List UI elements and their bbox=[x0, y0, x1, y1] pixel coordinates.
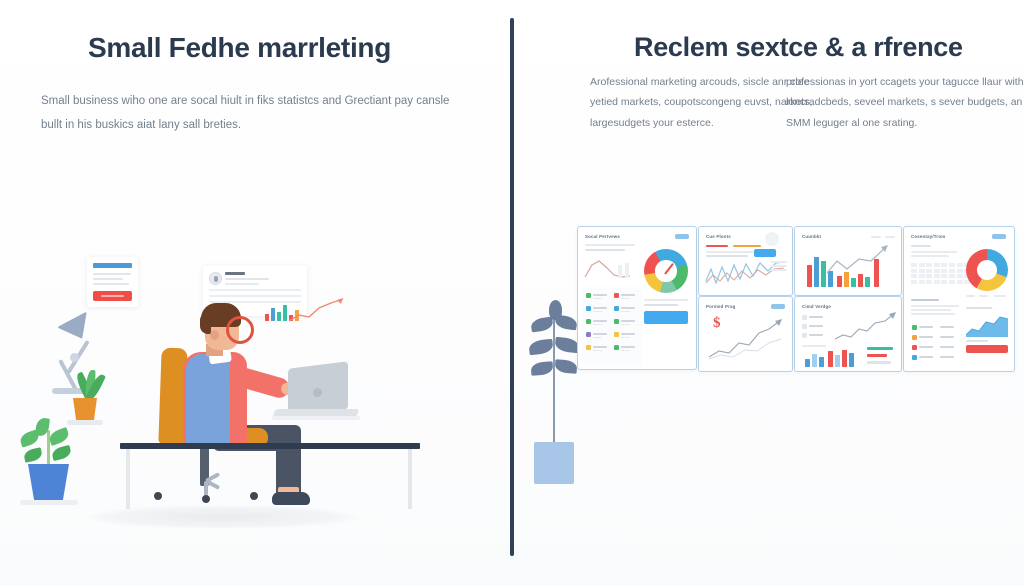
legend-swatch bbox=[706, 245, 728, 247]
left-panel: Small Fedhe marrleting Small business wi… bbox=[0, 0, 510, 585]
screen-campaigns[interactable]: Cue Plonts bbox=[698, 226, 793, 296]
chair-base bbox=[156, 481, 256, 495]
legend-swatch bbox=[867, 361, 891, 364]
laptop-logo-icon bbox=[313, 388, 322, 397]
card-text-line bbox=[93, 273, 131, 275]
floating-form-card bbox=[87, 257, 138, 307]
screen-reporting[interactable]: Cosentay/Trom bbox=[903, 226, 1015, 372]
screen-counters[interactable]: Cuunbkt bbox=[794, 226, 902, 296]
floating-analytics-chart bbox=[265, 289, 349, 323]
leaf-icon bbox=[51, 445, 72, 461]
comparison-infographic: Small Fedhe marrleting Small business wi… bbox=[0, 0, 1024, 585]
plant-pot bbox=[28, 464, 69, 503]
person-shoe bbox=[272, 492, 310, 505]
plant-pot bbox=[73, 398, 97, 422]
line-chart bbox=[584, 255, 636, 283]
trend-arrow-icon bbox=[825, 243, 893, 283]
lamp-joint bbox=[70, 353, 79, 362]
person-hair-side bbox=[200, 314, 211, 334]
screen-growth[interactable]: Cimd Verdge bbox=[794, 296, 902, 372]
leaf-icon bbox=[47, 427, 70, 446]
desk-surface bbox=[120, 443, 420, 449]
plant-pot bbox=[534, 442, 574, 484]
screen-funnel[interactable]: Pormed Prag $ bbox=[698, 296, 793, 372]
person-ear bbox=[210, 330, 219, 340]
legend-swatch bbox=[733, 245, 761, 247]
leaf-icon bbox=[23, 447, 43, 462]
avatar bbox=[209, 272, 222, 285]
post-text-line bbox=[225, 278, 269, 280]
area-line bbox=[833, 311, 897, 345]
plant-saucer bbox=[67, 420, 103, 425]
post-author-line bbox=[225, 272, 245, 275]
plant-saucer bbox=[20, 500, 78, 505]
post-text-line bbox=[225, 283, 259, 285]
card-text-line bbox=[93, 278, 123, 280]
legend-swatch bbox=[867, 347, 893, 350]
trend-line-icon bbox=[287, 297, 345, 323]
status-badge bbox=[771, 304, 785, 309]
person-vest-panel bbox=[214, 356, 230, 446]
legend-swatch bbox=[867, 354, 887, 357]
desk-leg bbox=[126, 449, 130, 509]
status-badge bbox=[675, 234, 689, 239]
card-header-bar bbox=[93, 263, 132, 268]
right-heading: Reclem sextce & a rfrence bbox=[634, 32, 963, 63]
trend-line bbox=[707, 317, 785, 361]
right-paragraph-col2: professionas in yort ccagets your tagucc… bbox=[786, 72, 1024, 133]
magnifier-icon bbox=[226, 316, 254, 344]
tooltip-chip bbox=[754, 249, 776, 257]
left-heading: Small Fedhe marrleting bbox=[88, 32, 391, 64]
data-table bbox=[911, 263, 970, 284]
left-paragraph: Small business wiho one are socal hiult … bbox=[41, 90, 461, 137]
card-cta-button[interactable] bbox=[93, 291, 132, 301]
card-text-line bbox=[93, 283, 129, 285]
laptop-edge bbox=[272, 416, 360, 420]
status-badge bbox=[992, 234, 1006, 239]
lamp-shade-icon bbox=[57, 311, 97, 346]
avatar bbox=[765, 232, 779, 246]
zigzag-line-chart bbox=[704, 259, 786, 287]
cta-button[interactable] bbox=[644, 311, 688, 324]
area-chart bbox=[966, 313, 1008, 337]
desk-leg bbox=[408, 449, 412, 509]
donut-chart bbox=[966, 249, 1008, 291]
red-cta-button[interactable] bbox=[966, 345, 1008, 353]
screen-social-overview[interactable]: Socal Pertvews bbox=[577, 226, 697, 370]
right-panel: Reclem sextce & a rfrence Arofessional m… bbox=[514, 0, 1024, 585]
